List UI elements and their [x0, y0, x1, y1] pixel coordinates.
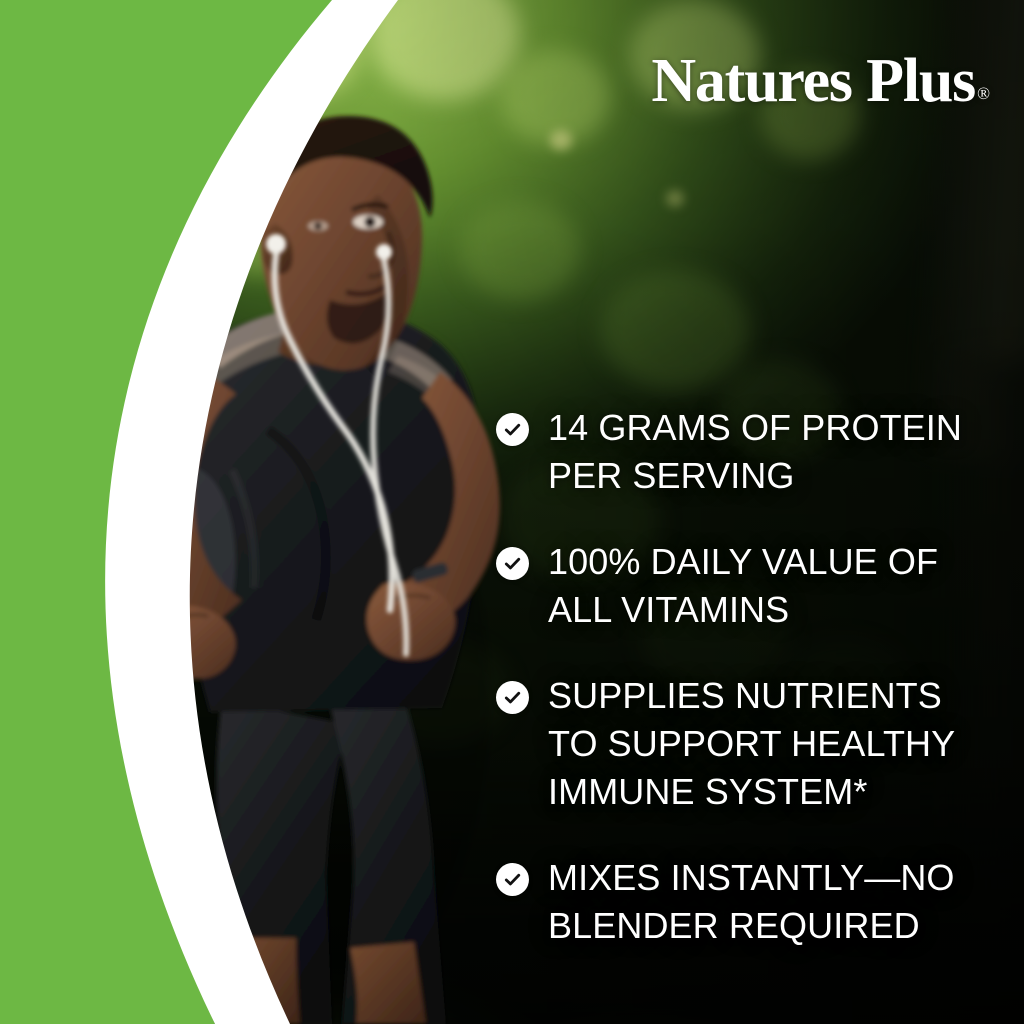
- check-circle-icon: [496, 547, 529, 580]
- check-circle-icon: [496, 681, 529, 714]
- list-item: SUPPLIES NUTRIENTS TO SUPPORT HEALTHY IM…: [496, 672, 996, 816]
- feature-text: 14 GRAMS OF PROTEIN PER SERVING: [548, 404, 962, 500]
- feature-list: 14 GRAMS OF PROTEIN PER SERVING 100% DAI…: [496, 404, 996, 950]
- check-circle-icon: [496, 413, 529, 446]
- brand-logo-text: Natures Plus: [651, 46, 975, 116]
- list-item: 14 GRAMS OF PROTEIN PER SERVING: [496, 404, 996, 500]
- feature-text: 100% DAILY VALUE OF ALL VITAMINS: [548, 538, 938, 634]
- check-circle-icon: [496, 863, 529, 896]
- promo-banner: Natures Plus® 14 GRAMS OF PROTEIN PER SE…: [0, 0, 1024, 1024]
- registered-trademark-icon: ®: [977, 85, 990, 102]
- brand-logo: Natures Plus®: [636, 46, 988, 116]
- list-item: 100% DAILY VALUE OF ALL VITAMINS: [496, 538, 996, 634]
- feature-text: MIXES INSTANTLY—NO BLENDER REQUIRED: [548, 854, 955, 950]
- feature-text: SUPPLIES NUTRIENTS TO SUPPORT HEALTHY IM…: [548, 672, 955, 816]
- list-item: MIXES INSTANTLY—NO BLENDER REQUIRED: [496, 854, 996, 950]
